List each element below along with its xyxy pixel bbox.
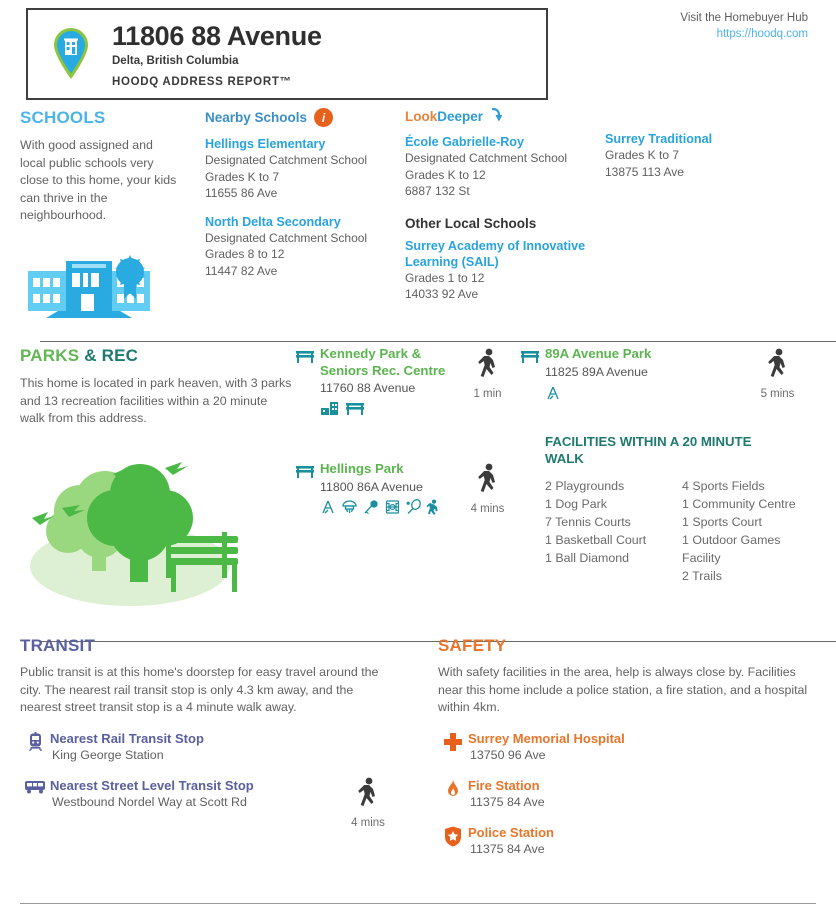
facility-item: 1 Ball Diamond	[545, 549, 668, 567]
walk-time: 1 min	[460, 388, 515, 400]
look-deeper-column-2: Surrey Traditional Grades K to 7 13875 1…	[605, 108, 795, 324]
bottom-divider	[20, 903, 816, 904]
school-address: 11655 86 Ave	[205, 185, 405, 202]
sports-field-icon	[385, 499, 400, 520]
deeper-label: Deeper	[437, 109, 483, 124]
schools-title: SCHOOLS	[20, 108, 205, 128]
school-item[interactable]: École Gabrielle-Roy Designated Catchment…	[405, 134, 605, 200]
community-centre-icon	[320, 400, 340, 421]
hub-link[interactable]: https://hoodq.com	[680, 28, 808, 40]
school-grades: Grades K to 7	[205, 169, 405, 186]
facility-item: 1 Community Centre	[682, 495, 805, 513]
curved-down-arrow-icon	[489, 108, 502, 125]
park-bench-icon	[290, 461, 320, 520]
parks-column-1: Kennedy Park & Seniors Rec. Centre 11760…	[290, 346, 515, 616]
park-bench-icon	[515, 346, 545, 407]
facility-item: 2 Playgrounds	[545, 477, 668, 495]
park-name[interactable]: Kennedy Park & Seniors Rec. Centre	[320, 346, 460, 379]
transit-item[interactable]: Nearest Street Level Transit Stop Westbo…	[20, 777, 398, 829]
safety-item-value: 11375 84 Ave	[468, 794, 816, 811]
playground-slide-icon	[545, 384, 561, 407]
walk-time-block: 5 mins	[750, 346, 805, 407]
school-building-icon	[20, 247, 205, 324]
park-bench-icon	[345, 400, 365, 421]
park-amenity-icons	[320, 400, 460, 421]
facilities-heading: FACILITIES WITHIN A 20 MINUTE WALK	[545, 433, 760, 467]
look-deeper-column: LookDeeper École Gabrielle-Roy Designate…	[405, 108, 605, 324]
playground-slide-icon	[320, 499, 336, 520]
transit-blurb: Public transit is at this home's doorste…	[20, 664, 390, 717]
schools-intro: SCHOOLS With good assigned and local pub…	[0, 108, 205, 324]
transit-item[interactable]: Nearest Rail Transit Stop King George St…	[20, 730, 398, 764]
school-address: 11447 82 Ave	[205, 263, 405, 280]
facility-item: 7 Tennis Courts	[545, 513, 668, 531]
transit-item-name[interactable]: Nearest Street Level Transit Stop	[50, 777, 338, 794]
facilities-column-left: 2 Playgrounds 1 Dog Park 7 Tennis Courts…	[545, 477, 668, 585]
facility-item: 4 Sports Fields	[682, 477, 805, 495]
other-local-schools-heading: Other Local Schools	[405, 216, 605, 231]
park-trees-bench-icon	[20, 446, 290, 616]
address-text-block: 11806 88 Avenue Delta, British Columbia …	[100, 21, 322, 88]
safety-item[interactable]: Police Station 11375 84 Ave	[438, 824, 816, 858]
report-label: HOODQ ADDRESS REPORT™	[112, 76, 322, 88]
facility-item: 1 Sports Court	[682, 513, 805, 531]
school-address: 13875 113 Ave	[605, 164, 795, 181]
parks-column-2: 89A Avenue Park 11825 89A Avenue 5 mins	[515, 346, 805, 616]
school-type: Designated Catchment School	[205, 152, 405, 169]
park-name[interactable]: Hellings Park	[320, 461, 460, 478]
parks-rec-section: PARKS & REC This home is located in park…	[0, 346, 836, 616]
hoodq-address-report: 11806 88 Avenue Delta, British Columbia …	[0, 0, 836, 911]
school-name[interactable]: Surrey Traditional	[605, 131, 795, 147]
look-label: Look	[405, 109, 437, 124]
school-grades: Grades K to 7	[605, 147, 795, 164]
section-divider	[40, 341, 836, 342]
school-grades: Grades 1 to 12	[405, 270, 605, 287]
walking-person-icon	[767, 369, 789, 386]
map-pin-house-icon	[42, 27, 100, 81]
facility-item: 1 Outdoor Games Facility	[682, 531, 805, 567]
school-address: 14033 92 Ave	[405, 286, 605, 303]
school-grades: Grades K to 12	[405, 167, 605, 184]
park-amenity-icons	[545, 384, 750, 407]
school-name[interactable]: North Delta Secondary	[205, 214, 405, 230]
walk-time: 4 mins	[460, 503, 515, 515]
safety-item[interactable]: Fire Station 11375 84 Ave	[438, 777, 816, 811]
medical-cross-icon	[438, 730, 468, 764]
ball-diamond-icon	[363, 499, 380, 520]
walk-time: 5 mins	[750, 388, 805, 400]
park-address: 11800 86A Avenue	[320, 478, 460, 496]
safety-item-name[interactable]: Surrey Memorial Hospital	[468, 730, 816, 747]
report-header: 11806 88 Avenue Delta, British Columbia …	[0, 0, 836, 100]
basketball-hoop-icon	[341, 499, 358, 520]
school-item[interactable]: North Delta Secondary Designated Catchme…	[205, 214, 405, 280]
walking-person-icon	[477, 369, 499, 386]
schools-blurb: With good assigned and local public scho…	[20, 137, 180, 225]
safety-blurb: With safety facilities in the area, help…	[438, 664, 808, 717]
school-item[interactable]: Surrey Traditional Grades K to 7 13875 1…	[605, 131, 795, 180]
park-amenity-icons	[320, 499, 460, 520]
school-address: 6887 132 St	[405, 183, 605, 200]
bottom-sections: TRANSIT Public transit is at this home's…	[0, 636, 836, 858]
walk-time-block: 4 mins	[338, 777, 398, 829]
info-icon[interactable]: i	[314, 108, 333, 127]
safety-item[interactable]: Surrey Memorial Hospital 13750 96 Ave	[438, 730, 816, 764]
safety-item-value: 11375 84 Ave	[468, 841, 816, 858]
safety-title: SAFETY	[438, 636, 816, 656]
facilities-column-right: 4 Sports Fields 1 Community Centre 1 Spo…	[682, 477, 805, 585]
school-grades: Grades 8 to 12	[205, 246, 405, 263]
nearby-schools-column: Nearby Schools i Hellings Elementary Des…	[205, 108, 405, 324]
school-item[interactable]: Surrey Academy of Innovative Learning (S…	[405, 238, 605, 303]
bus-icon	[20, 777, 50, 829]
tennis-racquet-icon	[405, 499, 422, 520]
parks-intro: PARKS & REC This home is located in park…	[0, 346, 290, 616]
walking-person-icon	[477, 484, 499, 501]
safety-item-name[interactable]: Fire Station	[468, 777, 816, 794]
safety-item-value: 13750 96 Ave	[468, 747, 816, 764]
train-icon	[20, 730, 50, 764]
park-address: 11760 88 Avenue	[320, 379, 460, 397]
school-type: Designated Catchment School	[405, 150, 605, 167]
facility-item: 1 Basketball Court	[545, 531, 668, 549]
school-name[interactable]: École Gabrielle-Roy	[405, 134, 605, 150]
flame-icon	[438, 777, 468, 811]
school-type: Designated Catchment School	[205, 230, 405, 247]
walk-time-block	[338, 730, 398, 764]
running-person-icon	[427, 499, 439, 520]
park-bench-icon	[290, 346, 320, 421]
walk-time-block: 1 min	[460, 346, 515, 421]
transit-item-value: Westbound Nordel Way at Scott Rd	[50, 794, 338, 811]
look-deeper-heading: LookDeeper	[405, 108, 605, 125]
park-name[interactable]: 89A Avenue Park	[545, 346, 750, 363]
address-city: Delta, British Columbia	[112, 55, 322, 67]
park-item[interactable]: Hellings Park 11800 86A Avenue	[290, 461, 515, 520]
school-name[interactable]: Surrey Academy of Innovative Learning (S…	[405, 238, 605, 270]
parks-blurb: This home is located in park heaven, wit…	[20, 375, 295, 428]
page-title: 11806 88 Avenue	[112, 21, 322, 51]
address-box: 11806 88 Avenue Delta, British Columbia …	[26, 8, 548, 100]
park-address: 11825 89A Avenue	[545, 363, 750, 381]
walking-person-icon	[357, 798, 379, 815]
parks-title: PARKS & REC	[20, 346, 290, 366]
police-shield-icon	[438, 824, 468, 858]
park-item[interactable]: Kennedy Park & Seniors Rec. Centre 11760…	[290, 346, 515, 421]
hub-label: Visit the Homebuyer Hub	[680, 12, 808, 24]
walk-time: 4 mins	[338, 817, 398, 829]
walk-time-block: 4 mins	[460, 461, 515, 520]
school-name[interactable]: Hellings Elementary	[205, 136, 405, 152]
homebuyer-hub: Visit the Homebuyer Hub https://hoodq.co…	[680, 8, 836, 40]
safety-section: SAFETY With safety facilities in the are…	[418, 636, 836, 858]
transit-section: TRANSIT Public transit is at this home's…	[0, 636, 418, 858]
schools-section: SCHOOLS With good assigned and local pub…	[0, 108, 836, 324]
parks-title-part2: & REC	[84, 346, 138, 365]
school-item[interactable]: Hellings Elementary Designated Catchment…	[205, 136, 405, 202]
park-item[interactable]: 89A Avenue Park 11825 89A Avenue 5 mins	[515, 346, 805, 407]
transit-item-name[interactable]: Nearest Rail Transit Stop	[50, 730, 338, 747]
transit-item-value: King George Station	[50, 747, 338, 764]
transit-title: TRANSIT	[20, 636, 398, 656]
facilities-block: FACILITIES WITHIN A 20 MINUTE WALK 2 Pla…	[515, 433, 805, 585]
nearby-schools-label: Nearby Schools	[205, 110, 307, 125]
safety-item-name[interactable]: Police Station	[468, 824, 816, 841]
parks-title-part1: PARKS	[20, 346, 79, 365]
nearby-schools-heading: Nearby Schools i	[205, 108, 405, 127]
facility-item: 1 Dog Park	[545, 495, 668, 513]
facility-item: 2 Trails	[682, 567, 805, 585]
